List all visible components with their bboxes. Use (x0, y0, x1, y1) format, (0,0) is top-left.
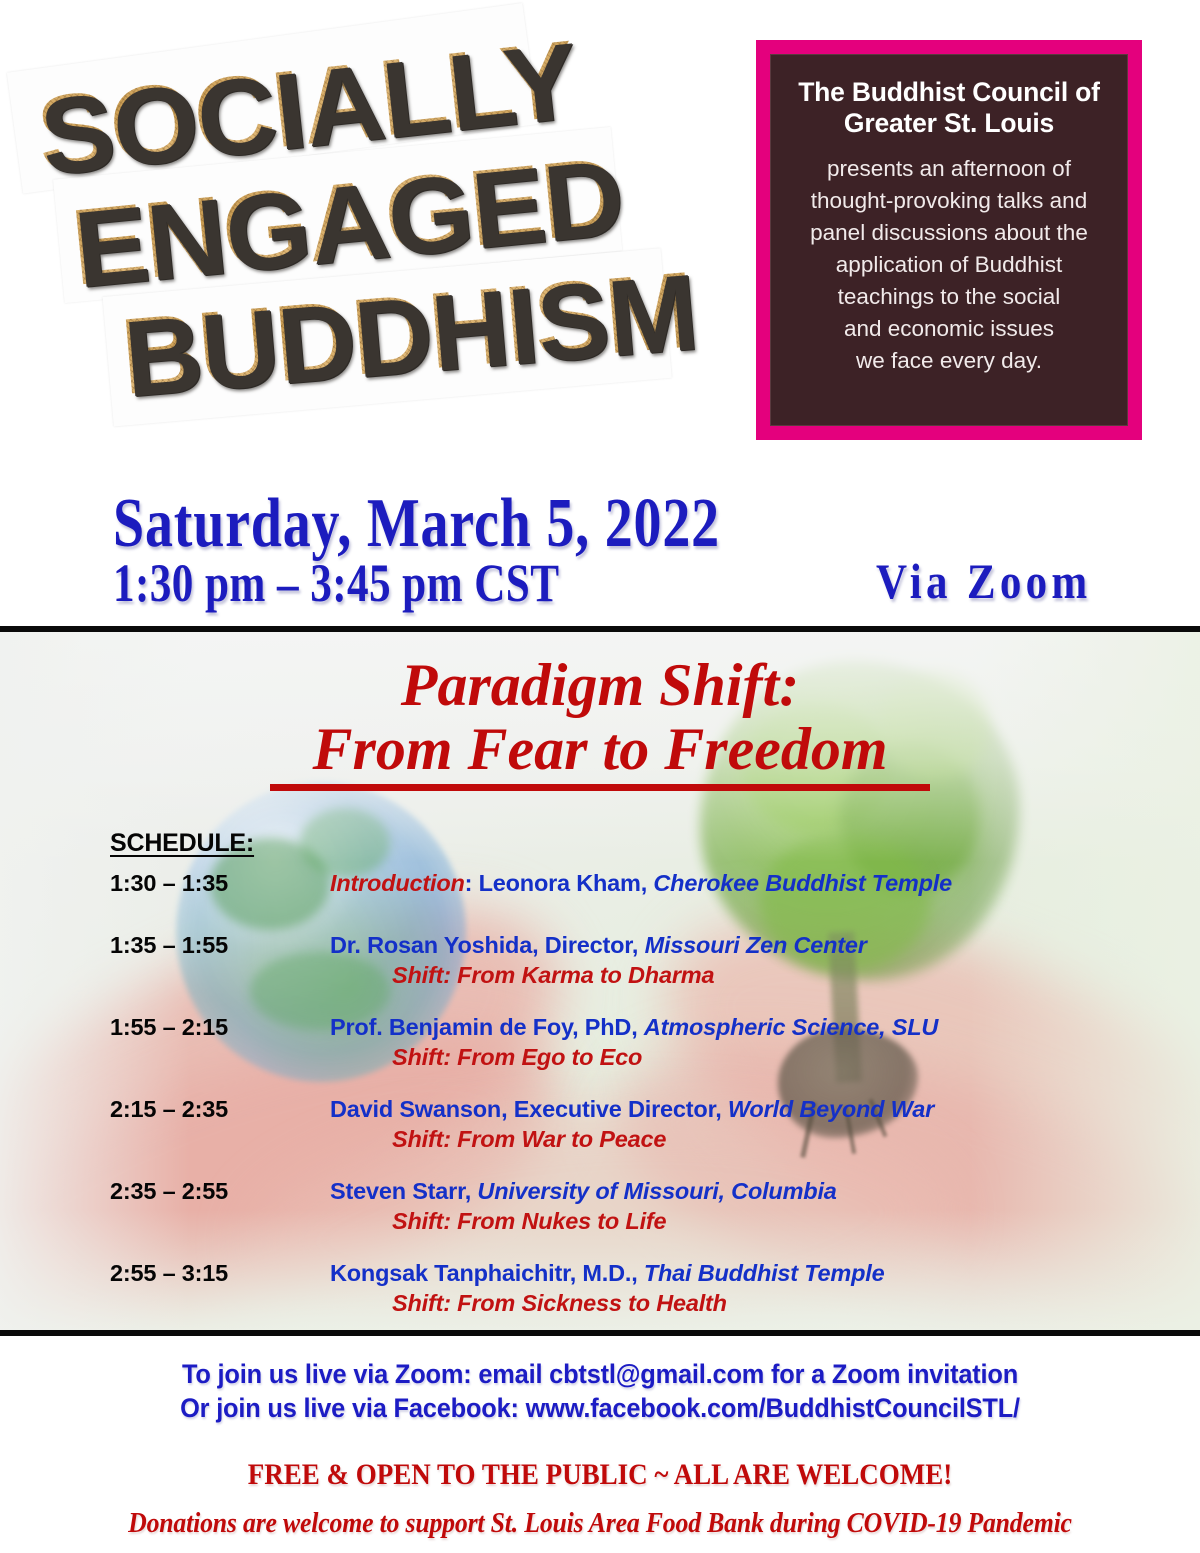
schedule-shift-line: Shift: From Nukes to Life (330, 1208, 1170, 1235)
program-panel: Paradigm Shift: From Fear to Freedom SCH… (0, 626, 1200, 1336)
program-title: Paradigm Shift: From Fear to Freedom (0, 654, 1200, 781)
program-title-line-1: Paradigm Shift: (0, 654, 1200, 718)
council-description: presents an afternoon ofthought-provokin… (787, 153, 1111, 377)
schedule-speaker-line: Steven Starr, University of Missouri, Co… (330, 1178, 1170, 1205)
council-presenter-box: The Buddhist Council of Greater St. Loui… (756, 40, 1142, 440)
schedule-speaker-line: Prof. Benjamin de Foy, PhD, Atmospheric … (330, 1014, 1170, 1041)
schedule-speaker-org: World Beyond War (728, 1096, 934, 1122)
schedule-time: 1:55 – 2:15 (110, 1014, 310, 1041)
schedule-time: 2:35 – 2:55 (110, 1178, 310, 1205)
schedule-speaker-org: Missouri Zen Center (645, 932, 867, 958)
panel-content: Paradigm Shift: From Fear to Freedom SCH… (0, 632, 1200, 1330)
council-description-line: teachings to the social (787, 281, 1111, 313)
schedule-time: 1:35 – 1:55 (110, 932, 310, 959)
schedule-speaker-line: Kongsak Tanphaichitr, M.D., Thai Buddhis… (330, 1260, 1170, 1287)
donation-line: Donations are welcome to support St. Lou… (48, 1508, 1152, 1540)
header-section: SOCIALLY ENGAGED BUDDHISM The Buddhist C… (0, 0, 1200, 626)
schedule-speaker-org: Cherokee Buddhist Temple (653, 870, 952, 896)
schedule-speaker-line: Introduction: Leonora Kham, Cherokee Bud… (330, 870, 1170, 897)
logo-inner: SOCIALLY ENGAGED BUDDHISM (0, 0, 699, 480)
schedule-entry: Dr. Rosan Yoshida, Director, Missouri Ze… (330, 932, 1170, 989)
schedule-shift-line: Shift: From Sickness to Health (330, 1290, 1170, 1317)
schedule-entry: Steven Starr, University of Missouri, Co… (330, 1178, 1170, 1235)
schedule-shift-line: Shift: From War to Peace (330, 1126, 1170, 1153)
schedule-time: 2:55 – 3:15 (110, 1260, 310, 1287)
socially-engaged-buddhism-logo: SOCIALLY ENGAGED BUDDHISM (18, 26, 678, 446)
schedule-entry: Introduction: Leonora Kham, Cherokee Bud… (330, 870, 1170, 897)
schedule-time: 2:15 – 2:35 (110, 1096, 310, 1123)
join-zoom-line[interactable]: To join us live via Zoom: email cbtstl@g… (36, 1359, 1164, 1390)
council-presenter-inner: The Buddhist Council of Greater St. Loui… (770, 54, 1128, 426)
council-description-line: thought-provoking talks and (787, 185, 1111, 217)
council-description-line: presents an afternoon of (787, 153, 1111, 185)
schedule-entry: David Swanson, Executive Director, World… (330, 1096, 1170, 1153)
footer-section: To join us live via Zoom: email cbtstl@g… (0, 1336, 1200, 1553)
event-platform: Via Zoom (876, 552, 1092, 610)
schedule-speaker-line: David Swanson, Executive Director, World… (330, 1096, 1170, 1123)
schedule-speaker-name: David Swanson, Executive Director, (330, 1096, 728, 1122)
title-underline-rule (270, 784, 930, 791)
schedule-speaker-name: Kongsak Tanphaichitr, M.D., (330, 1260, 644, 1286)
event-time: 1:30 pm – 3:45 pm CST (113, 552, 559, 614)
council-description-line: application of Buddhist (787, 249, 1111, 281)
schedule-speaker-org: Atmospheric Science, SLU (644, 1014, 938, 1040)
schedule-speaker-name: Steven Starr, (330, 1178, 477, 1204)
schedule-heading: SCHEDULE: (110, 829, 254, 858)
schedule-speaker-org: Thai Buddhist Temple (644, 1260, 885, 1286)
schedule-entry: Prof. Benjamin de Foy, PhD, Atmospheric … (330, 1014, 1170, 1071)
free-admission-line: FREE & OPEN TO THE PUBLIC ~ ALL ARE WELC… (60, 1458, 1140, 1492)
schedule-time: 1:30 – 1:35 (110, 870, 310, 897)
council-description-line: panel discussions about the (787, 217, 1111, 249)
schedule-speaker-name: Dr. Rosan Yoshida, Director, (330, 932, 645, 958)
schedule-speaker-name: Leonora Kham, (479, 870, 654, 896)
join-facebook-line[interactable]: Or join us live via Facebook: www.facebo… (36, 1393, 1164, 1424)
event-datetime-block: Saturday, March 5, 2022 1:30 pm – 3:45 p… (0, 480, 1200, 620)
schedule-speaker-org: University of Missouri, Columbia (477, 1178, 836, 1204)
schedule-session-label: Introduction (330, 870, 465, 896)
council-description-line: and economic issues (787, 313, 1111, 345)
schedule-speaker-line: Dr. Rosan Yoshida, Director, Missouri Ze… (330, 932, 1170, 959)
schedule-separator: : (465, 870, 479, 896)
council-title: The Buddhist Council of Greater St. Loui… (787, 77, 1111, 139)
schedule-shift-line: Shift: From Ego to Eco (330, 1044, 1170, 1071)
council-description-line: we face every day. (787, 345, 1111, 377)
schedule-shift-line: Shift: From Karma to Dharma (330, 962, 1170, 989)
program-title-line-2: From Fear to Freedom (0, 718, 1200, 782)
schedule-speaker-name: Prof. Benjamin de Foy, PhD, (330, 1014, 644, 1040)
schedule-entry: Kongsak Tanphaichitr, M.D., Thai Buddhis… (330, 1260, 1170, 1317)
council-title-line-1: The Buddhist Council (798, 77, 1068, 107)
